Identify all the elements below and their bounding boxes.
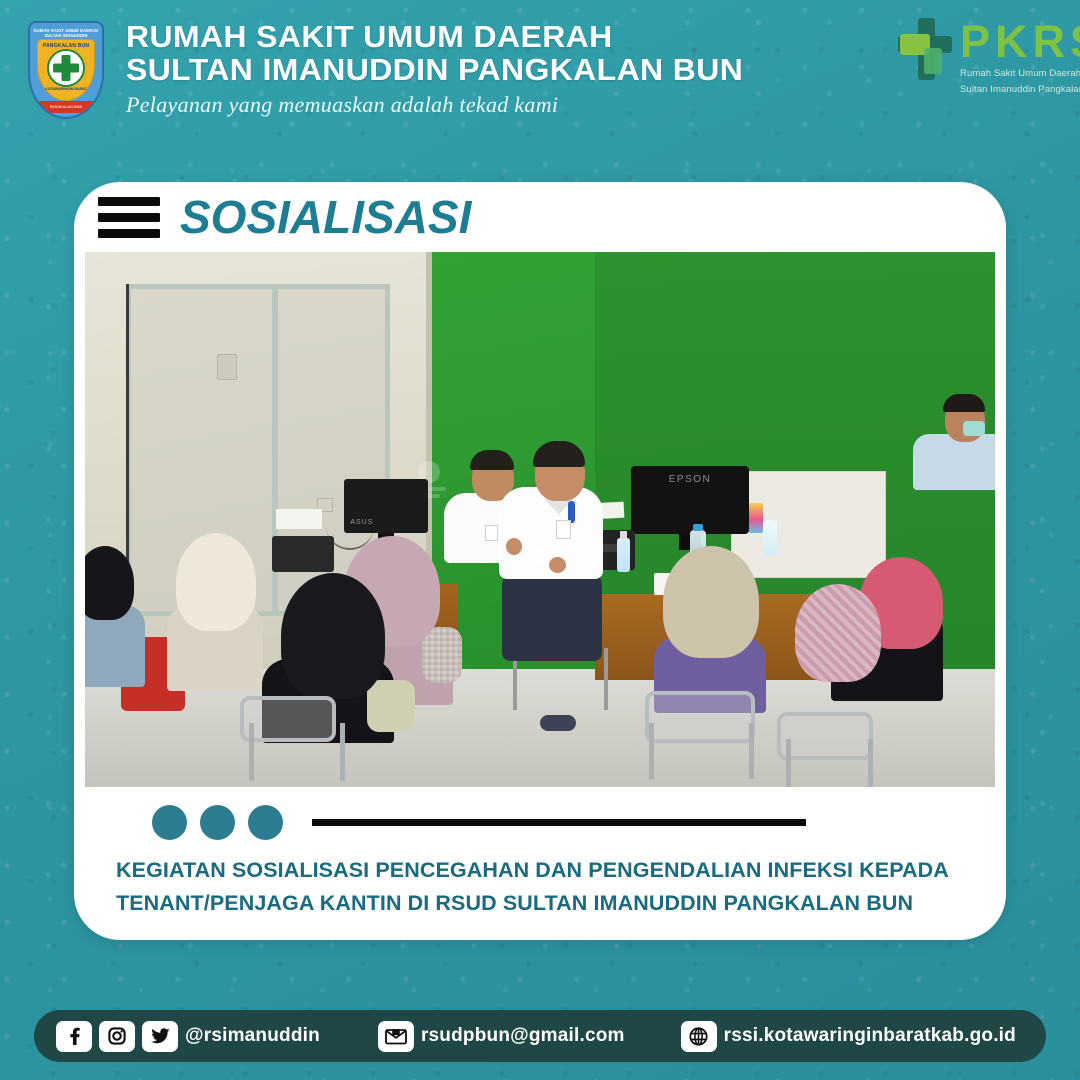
decorative-dot <box>248 805 283 840</box>
content-card: SOSIALISASI ASUS EPSON <box>74 182 1006 940</box>
hamburger-icon <box>98 197 160 238</box>
decorative-dot <box>200 805 235 840</box>
twitter-icon[interactable] <box>142 1021 178 1052</box>
caption-line2: TENANT/PENJAGA KANTIN DI RSUD SULTAN IMA… <box>74 887 1006 920</box>
asus-monitor: ASUS <box>344 479 428 533</box>
shield-inner: PANGKALAN BUN KOTAWARINGIN BARAT <box>37 39 95 101</box>
header-text-block: RUMAH SAKIT UMUM DAERAH SULTAN IMANUDDIN… <box>126 20 1080 120</box>
epson-monitor: EPSON <box>631 466 749 534</box>
globe-icon[interactable] <box>681 1021 717 1052</box>
shield-ribbon-text: PANGKALAN BUN <box>50 105 82 109</box>
caption-line1: KEGIATAN SOSIALISASI PENCEGAHAN DAN PENG… <box>74 854 1006 887</box>
asus-monitor-label: ASUS <box>350 519 373 526</box>
caption-block: KEGIATAN SOSIALISASI PENCEGAHAN DAN PENG… <box>74 787 1006 920</box>
website-group: rssi.kotawaringinbaratkab.go.id <box>681 1021 1016 1052</box>
face-mask <box>963 421 985 436</box>
decorative-dots-row <box>74 805 1006 840</box>
social-group: @rsimanuddin <box>56 1021 320 1052</box>
card-title-row: SOSIALISASI <box>74 182 1006 252</box>
activity-photo: ASUS EPSON <box>85 252 995 787</box>
shield-bottom-label: KOTAWARINGIN BARAT <box>38 87 94 91</box>
email-icon[interactable] <box>378 1021 414 1052</box>
hospital-name-line1: RUMAH SAKIT UMUM DAERAH <box>126 20 1080 53</box>
contact-footer: @rsimanuddin rsudpbun@gmail.com rssi.kot… <box>34 1010 1046 1062</box>
hospital-shield-logo: RUMAH SAKIT UMUM DAERAH SULTAN IMANUDDIN… <box>28 21 104 119</box>
page-title: SOSIALISASI <box>180 190 471 244</box>
decorative-rule <box>312 819 806 826</box>
email-group: rsudpbun@gmail.com <box>378 1021 625 1052</box>
website-url: rssi.kotawaringinbaratkab.go.id <box>724 1025 1016 1047</box>
page-header: RUMAH SAKIT UMUM DAERAH SULTAN IMANUDDIN… <box>0 0 1080 140</box>
shield-top-text: RUMAH SAKIT UMUM DAERAH SULTAN IMANUDDIN <box>30 28 102 39</box>
shield-ribbon: PANGKALAN BUN <box>34 101 98 113</box>
hospital-name-line2: SULTAN IMANUDDIN PANGKALAN BUN <box>126 53 1080 86</box>
facebook-icon[interactable] <box>56 1021 92 1052</box>
green-cross-icon <box>47 49 85 87</box>
epson-monitor-label: EPSON <box>669 474 712 485</box>
social-handle: @rsimanuddin <box>185 1025 320 1047</box>
instagram-icon[interactable] <box>99 1021 135 1052</box>
email-address: rsudpbun@gmail.com <box>421 1025 625 1047</box>
hospital-tagline: Pelayanan yang memuaskan adalah tekad ka… <box>126 90 1080 120</box>
decorative-dot <box>152 805 187 840</box>
